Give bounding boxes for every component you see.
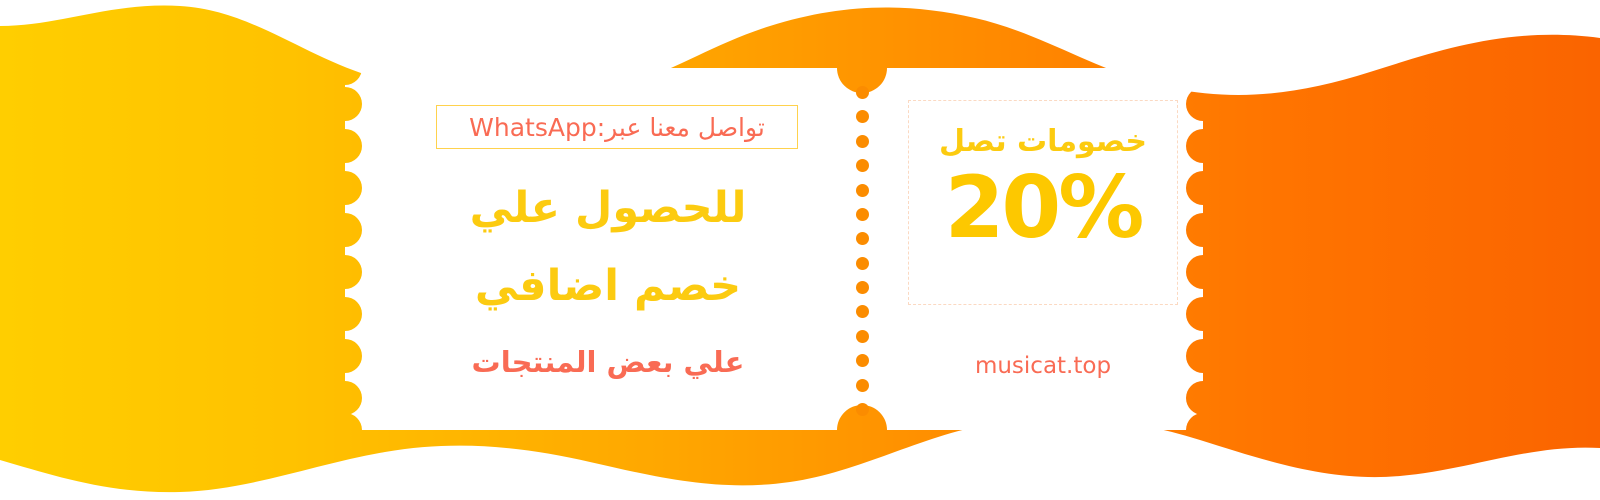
discount-box: خصومات تصل 20% (908, 100, 1178, 305)
discount-value: 20% (945, 165, 1142, 251)
coupon-banner: تواصل معنا عبر:WhatsApp للحصول علي خصم ا… (0, 0, 1600, 500)
offer-subline: علي بعض المنتجات (358, 348, 858, 377)
website-url[interactable]: musicat.top (878, 355, 1208, 378)
main-offer-panel: تواصل معنا عبر:WhatsApp للحصول علي خصم ا… (358, 60, 858, 438)
coupon-ticket[interactable]: تواصل معنا عبر:WhatsApp للحصول علي خصم ا… (338, 60, 1210, 438)
offer-headline-line-2: خصم اضافي (358, 265, 858, 308)
discount-label: خصومات تصل (939, 127, 1147, 157)
whatsapp-contact-label: تواصل معنا عبر:WhatsApp (469, 115, 765, 140)
offer-headline-line-1: للحصول علي (358, 187, 858, 230)
ticket-content: تواصل معنا عبر:WhatsApp للحصول علي خصم ا… (338, 60, 1210, 438)
whatsapp-contact-box[interactable]: تواصل معنا عبر:WhatsApp (436, 105, 798, 149)
discount-stub-panel: خصومات تصل 20% musicat.top (878, 60, 1198, 438)
